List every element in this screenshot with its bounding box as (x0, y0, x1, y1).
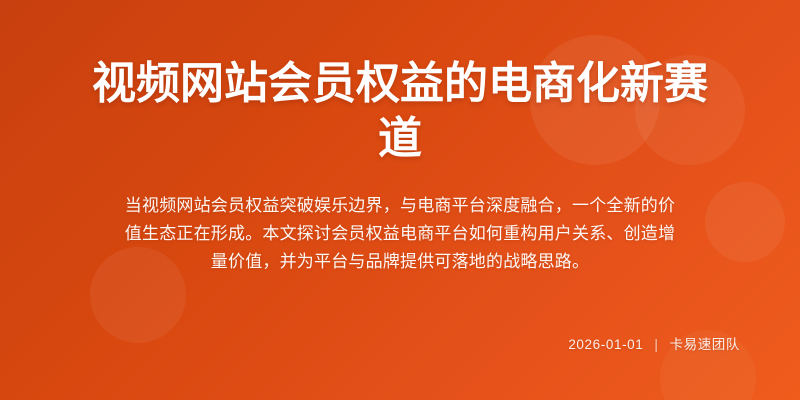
article-summary-line-1: 当视频网站会员权益突破娱乐边界，与电商平台深度融合，一个全新的价 (125, 196, 675, 215)
layout-spacer (58, 276, 742, 336)
page-title: 视频网站会员权益的电商化新赛道 (58, 56, 742, 166)
publish-date: 2026-01-01 (568, 336, 643, 354)
meta-separator: | (654, 336, 658, 354)
article-summary-line-2: 值生态正在形成。本文探讨会员权益电商平台如何重构用户关系、创造增 (125, 224, 675, 243)
page-title-line-1: 视频网站会员权益的电商化新赛 (92, 59, 708, 108)
article-hero-banner: 视频网站会员权益的电商化新赛道 当视频网站会员权益突破娱乐边界，与电商平台深度融… (0, 0, 800, 400)
author-name: 卡易速团队 (670, 336, 741, 354)
banner-content: 视频网站会员权益的电商化新赛道 当视频网站会员权益突破娱乐边界，与电商平台深度融… (0, 0, 800, 400)
banner-meta: 2026-01-01 | 卡易速团队 (58, 336, 742, 378)
article-summary: 当视频网站会员权益突破娱乐边界，与电商平台深度融合，一个全新的价值生态正在形成。… (125, 192, 675, 276)
article-summary-line-3: 量价值，并为平台与品牌提供可落地的战略思路。 (211, 252, 589, 271)
page-title-line-2: 道 (378, 114, 422, 163)
